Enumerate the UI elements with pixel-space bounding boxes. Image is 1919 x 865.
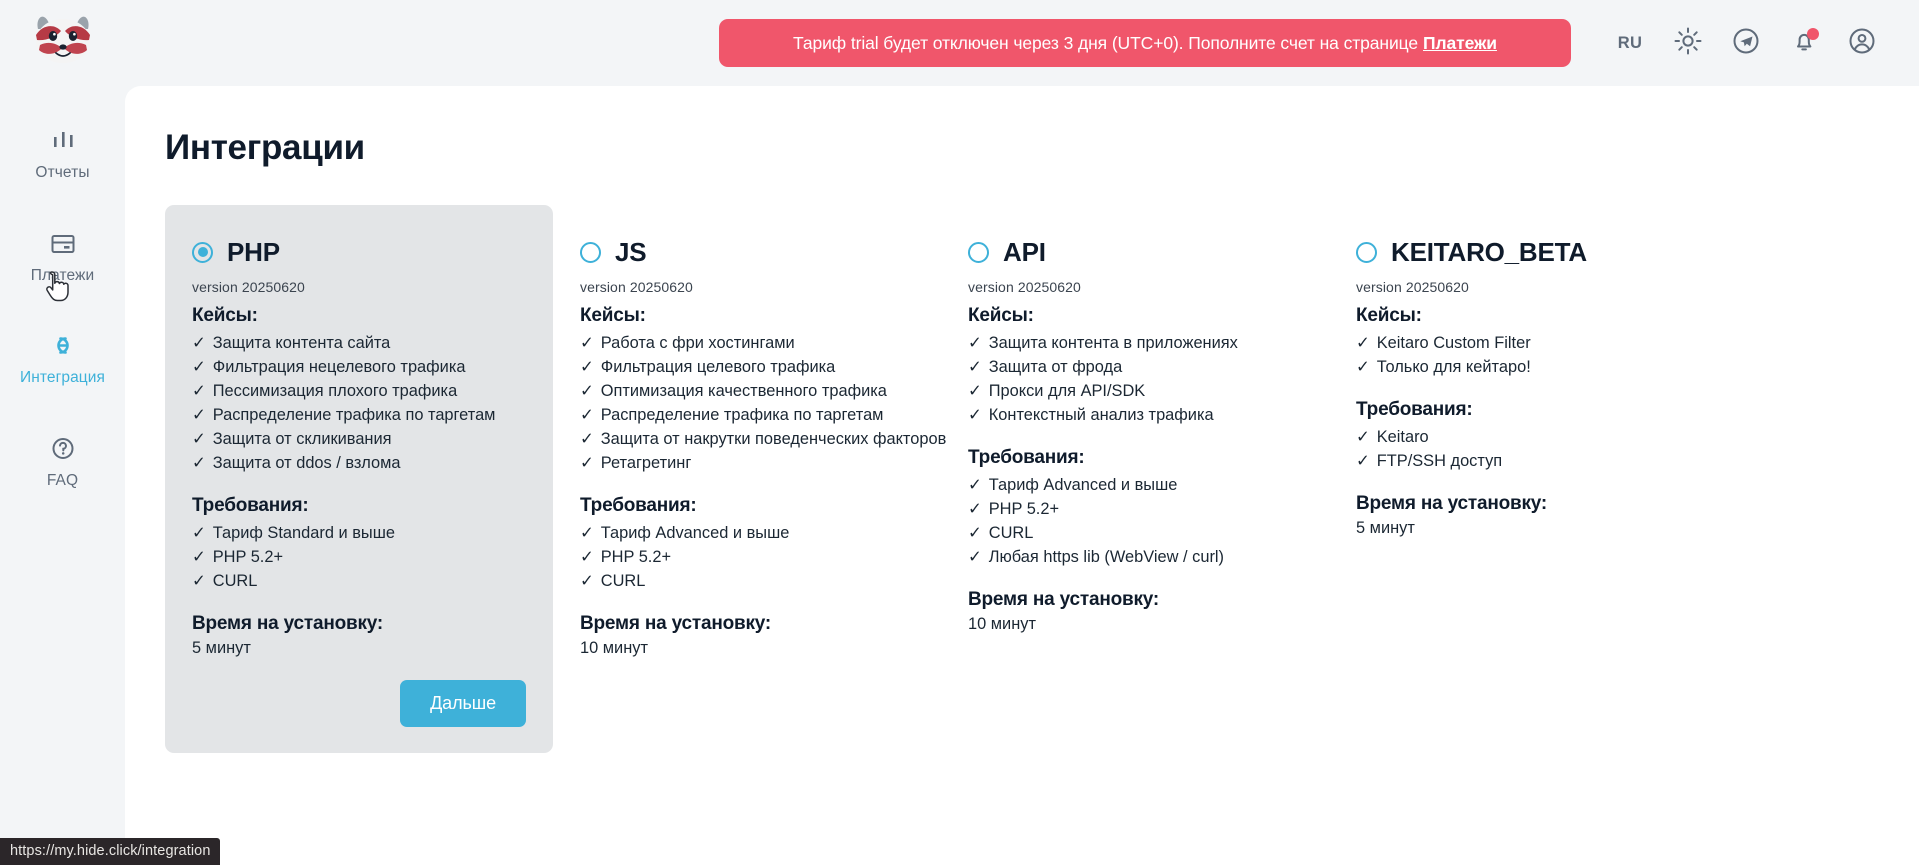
cases-list: ✓Защита контента в приложениях ✓Защита о… <box>968 331 1302 427</box>
cases-list: ✓Защита контента сайта ✓Фильтрация нецел… <box>192 331 526 475</box>
list-item: ✓Фильтрация нецелевого трафика <box>192 355 526 379</box>
card-title: PHP <box>227 239 280 265</box>
user-account-icon <box>1847 26 1877 61</box>
check-icon: ✓ <box>968 473 982 497</box>
list-item: ✓CURL <box>192 569 526 593</box>
cases-list: ✓Keitaro Custom Filter ✓Только для кейта… <box>1356 331 1690 379</box>
check-icon: ✓ <box>1356 425 1370 449</box>
check-icon: ✓ <box>580 379 594 403</box>
question-circle-icon <box>46 432 80 466</box>
check-icon: ✓ <box>192 521 206 545</box>
list-item: ✓Контекстный анализ трафика <box>968 403 1302 427</box>
bar-chart-icon <box>46 124 80 158</box>
app-root: Отчеты Платежи <box>0 0 1919 865</box>
requirements-list: ✓Тариф Advanced и выше ✓PHP 5.2+ ✓CURL <box>580 521 914 593</box>
check-icon: ✓ <box>968 545 982 569</box>
requirements-list: ✓Keitaro ✓FTP/SSH доступ <box>1356 425 1690 473</box>
requirements-list: ✓Тариф Standard и выше ✓PHP 5.2+ ✓CURL <box>192 521 526 593</box>
list-item: ✓Прокси для API/SDK <box>968 379 1302 403</box>
check-icon: ✓ <box>580 403 594 427</box>
list-item: ✓Только для кейтаро! <box>1356 355 1690 379</box>
check-icon: ✓ <box>968 355 982 379</box>
list-item: ✓CURL <box>968 521 1302 545</box>
theme-toggle-button[interactable] <box>1659 19 1717 67</box>
sidebar-item-integration[interactable]: Интеграция <box>0 315 125 396</box>
radio-button-api[interactable] <box>968 242 989 263</box>
card-actions: Дальше <box>192 658 526 727</box>
check-icon: ✓ <box>968 379 982 403</box>
check-icon: ✓ <box>192 403 206 427</box>
sidebar: Отчеты Платежи <box>0 0 125 865</box>
check-icon: ✓ <box>580 545 594 569</box>
install-time-value: 10 минут <box>580 639 914 658</box>
check-icon: ✓ <box>192 331 206 355</box>
sidebar-item-label: Интеграция <box>20 370 105 386</box>
topbar: Тариф trial будет отключен через 3 дня (… <box>125 0 1919 86</box>
check-icon: ✓ <box>1356 331 1370 355</box>
credit-card-icon <box>46 227 80 261</box>
list-item: ✓Распределение трафика по таргетам <box>192 403 526 427</box>
card-version: version 20250620 <box>580 279 914 295</box>
radio-button-php[interactable] <box>192 242 213 263</box>
install-time-value: 10 минут <box>968 615 1302 634</box>
install-time-title: Время на установку: <box>580 613 914 635</box>
cases-title: Кейсы: <box>968 305 1302 327</box>
card-header: KEITARO_BETA <box>1356 237 1690 267</box>
check-icon: ✓ <box>968 521 982 545</box>
list-item: ✓PHP 5.2+ <box>580 545 914 569</box>
list-item: ✓PHP 5.2+ <box>192 545 526 569</box>
sidebar-item-reports[interactable]: Отчеты <box>0 110 125 191</box>
page-title: Интеграции <box>165 128 1919 168</box>
trial-alert-banner[interactable]: Тариф trial будет отключен через 3 дня (… <box>719 19 1571 67</box>
card-header: API <box>968 237 1302 267</box>
notifications-button[interactable] <box>1775 19 1833 67</box>
card-title: JS <box>615 239 646 265</box>
notification-badge <box>1807 28 1819 40</box>
check-icon: ✓ <box>192 379 206 403</box>
install-time-title: Время на установку: <box>1356 493 1690 515</box>
cases-title: Кейсы: <box>1356 305 1690 327</box>
list-item: ✓Keitaro <box>1356 425 1690 449</box>
cases-list: ✓Работа с фри хостингами ✓Фильтрация цел… <box>580 331 914 475</box>
list-item: ✓Тариф Advanced и выше <box>580 521 914 545</box>
language-switcher[interactable]: RU <box>1601 19 1659 67</box>
card-header: JS <box>580 237 914 267</box>
alert-payments-link[interactable]: Платежи <box>1423 33 1497 54</box>
check-icon: ✓ <box>192 427 206 451</box>
install-time-value: 5 минут <box>192 639 526 658</box>
requirements-title: Требования: <box>580 495 914 517</box>
install-time-title: Время на установку: <box>192 613 526 635</box>
sidebar-item-faq[interactable]: FAQ <box>0 418 125 499</box>
integration-card-keitaro-beta[interactable]: KEITARO_BETA version 20250620 Кейсы: ✓Ke… <box>1329 205 1717 568</box>
requirements-title: Требования: <box>968 447 1302 469</box>
next-button[interactable]: Дальше <box>400 680 526 727</box>
cases-title: Кейсы: <box>580 305 914 327</box>
radio-button-keitaro-beta[interactable] <box>1356 242 1377 263</box>
list-item: ✓Любая https lib (WebView / curl) <box>968 545 1302 569</box>
list-item: ✓Фильтрация целевого трафика <box>580 355 914 379</box>
card-header: PHP <box>192 237 526 267</box>
cases-title: Кейсы: <box>192 305 526 327</box>
main-area: Тариф trial будет отключен через 3 дня (… <box>125 0 1919 865</box>
check-icon: ✓ <box>192 545 206 569</box>
list-item: ✓Защита от фрода <box>968 355 1302 379</box>
card-version: version 20250620 <box>192 279 526 295</box>
list-item: ✓Защита от накрутки поведенческих фактор… <box>580 427 914 451</box>
check-icon: ✓ <box>580 331 594 355</box>
check-icon: ✓ <box>968 331 982 355</box>
list-item: ✓Защита контента в приложениях <box>968 331 1302 355</box>
status-bar-url: https://my.hide.click/integration <box>0 838 220 865</box>
card-title: KEITARO_BETA <box>1391 239 1587 265</box>
list-item: ✓FTP/SSH доступ <box>1356 449 1690 473</box>
check-icon: ✓ <box>580 355 594 379</box>
list-item: ✓Пессимизация плохого трафика <box>192 379 526 403</box>
link-icon <box>46 329 80 363</box>
list-item: ✓Защита от скликивания <box>192 427 526 451</box>
check-icon: ✓ <box>968 403 982 427</box>
list-item: ✓Тариф Advanced и выше <box>968 473 1302 497</box>
sidebar-item-label: FAQ <box>47 473 78 489</box>
check-icon: ✓ <box>968 497 982 521</box>
sidebar-nav: Отчеты Платежи <box>0 110 125 498</box>
raccoon-logo[interactable] <box>27 10 99 72</box>
card-version: version 20250620 <box>968 279 1302 295</box>
integration-card-api[interactable]: API version 20250620 Кейсы: ✓Защита конт… <box>941 205 1329 664</box>
telegram-button[interactable] <box>1717 19 1775 67</box>
check-icon: ✓ <box>580 427 594 451</box>
alert-text: Тариф trial будет отключен через 3 дня (… <box>793 33 1418 54</box>
account-button[interactable] <box>1833 19 1891 67</box>
list-item: ✓Keitaro Custom Filter <box>1356 331 1690 355</box>
telegram-icon <box>1731 26 1761 61</box>
check-icon: ✓ <box>1356 355 1370 379</box>
card-title: API <box>1003 239 1046 265</box>
check-icon: ✓ <box>580 521 594 545</box>
list-item: ✓Распределение трафика по таргетам <box>580 403 914 427</box>
sidebar-item-label: Отчеты <box>35 165 89 181</box>
requirements-title: Требования: <box>1356 399 1690 421</box>
check-icon: ✓ <box>1356 449 1370 473</box>
requirements-title: Требования: <box>192 495 526 517</box>
sidebar-item-label: Платежи <box>31 268 95 284</box>
list-item: ✓PHP 5.2+ <box>968 497 1302 521</box>
integration-card-js[interactable]: JS version 20250620 Кейсы: ✓Работа с фри… <box>553 205 941 688</box>
list-item: ✓CURL <box>580 569 914 593</box>
list-item: ✓Оптимизация качественного трафика <box>580 379 914 403</box>
list-item: ✓Защита от ddos / взлома <box>192 451 526 475</box>
check-icon: ✓ <box>580 451 594 475</box>
topbar-icons: RU <box>1601 19 1891 67</box>
install-time-value: 5 минут <box>1356 519 1690 538</box>
check-icon: ✓ <box>580 569 594 593</box>
requirements-list: ✓Тариф Advanced и выше ✓PHP 5.2+ ✓CURL ✓… <box>968 473 1302 569</box>
check-icon: ✓ <box>192 355 206 379</box>
sun-icon <box>1673 26 1703 61</box>
language-label: RU <box>1618 34 1642 53</box>
list-item: ✓Тариф Standard и выше <box>192 521 526 545</box>
integration-card-php[interactable]: PHP version 20250620 Кейсы: ✓Защита конт… <box>165 205 553 753</box>
check-icon: ✓ <box>192 451 206 475</box>
list-item: ✓Защита контента сайта <box>192 331 526 355</box>
integration-cards: PHP version 20250620 Кейсы: ✓Защита конт… <box>165 205 1919 753</box>
sidebar-item-payments[interactable]: Платежи <box>0 213 125 294</box>
install-time-title: Время на установку: <box>968 589 1302 611</box>
check-icon: ✓ <box>192 569 206 593</box>
radio-button-js[interactable] <box>580 242 601 263</box>
card-version: version 20250620 <box>1356 279 1690 295</box>
list-item: ✓Работа с фри хостингами <box>580 331 914 355</box>
content-panel: Интеграции PHP version 20250620 Кейсы: ✓… <box>125 86 1919 865</box>
list-item: ✓Ретагретинг <box>580 451 914 475</box>
